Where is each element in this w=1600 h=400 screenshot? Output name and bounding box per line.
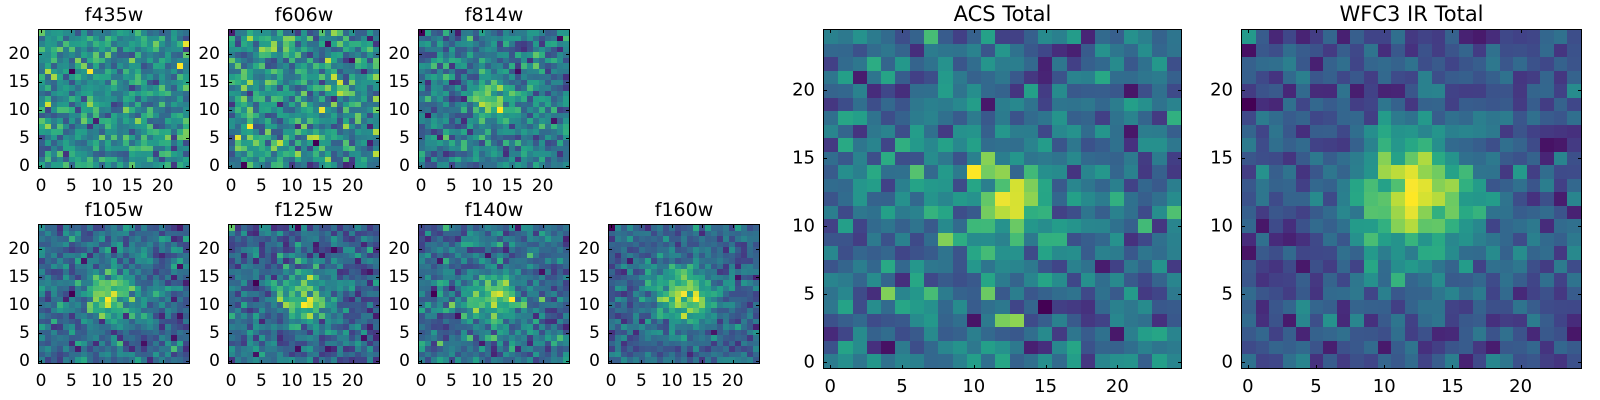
y-tick-label: 20 xyxy=(1173,80,1233,101)
x-tick-mark xyxy=(902,29,903,33)
image-axes xyxy=(608,224,760,364)
y-tick-mark xyxy=(38,249,42,250)
y-tick-mark xyxy=(1578,362,1582,363)
x-tick-mark xyxy=(1316,29,1317,33)
y-tick-mark xyxy=(228,277,232,278)
y-tick-mark xyxy=(1241,226,1245,227)
y-tick-label: 10 xyxy=(540,295,600,315)
y-tick-label: 10 xyxy=(0,295,30,315)
y-tick-label: 15 xyxy=(160,72,220,92)
x-tick-mark xyxy=(322,360,323,364)
cutout-panel-f160w: f160w0510152005101520 xyxy=(608,224,760,364)
y-tick-mark xyxy=(418,277,422,278)
y-tick-label: 0 xyxy=(1173,352,1233,373)
x-tick-mark xyxy=(41,165,42,169)
y-tick-mark xyxy=(823,294,827,295)
x-tick-label: 20 xyxy=(513,176,573,196)
cutout-panel-wfc3-ir-total: WFC3 IR Total0510152005101520 xyxy=(1241,29,1582,369)
x-tick-mark xyxy=(702,224,703,228)
y-tick-label: 10 xyxy=(350,295,410,315)
x-tick-mark xyxy=(830,365,831,369)
y-tick-label: 10 xyxy=(0,100,30,120)
x-tick-mark xyxy=(1384,29,1385,33)
x-tick-mark xyxy=(512,360,513,364)
pixel-grid xyxy=(824,30,1181,368)
y-tick-label: 5 xyxy=(160,128,220,148)
x-tick-mark xyxy=(353,224,354,228)
x-tick-label: 5 xyxy=(1286,376,1346,397)
pixel-grid xyxy=(609,225,759,363)
y-tick-label: 20 xyxy=(160,44,220,64)
y-tick-label: 10 xyxy=(160,295,220,315)
x-tick-mark xyxy=(163,29,164,33)
panel-title: f814w xyxy=(418,4,570,26)
x-tick-label: 20 xyxy=(513,371,573,391)
y-tick-label: 0 xyxy=(0,351,30,371)
x-tick-mark xyxy=(543,165,544,169)
x-tick-label: 20 xyxy=(133,371,193,391)
x-tick-mark xyxy=(451,165,452,169)
x-tick-mark xyxy=(292,29,293,33)
x-tick-mark xyxy=(702,360,703,364)
y-tick-label: 10 xyxy=(755,216,815,237)
y-tick-label: 15 xyxy=(350,267,410,287)
panel-title: f125w xyxy=(228,199,380,221)
x-tick-label: 5 xyxy=(872,376,932,397)
x-tick-mark xyxy=(611,224,612,228)
y-tick-mark xyxy=(823,90,827,91)
x-tick-mark xyxy=(830,29,831,33)
y-tick-mark xyxy=(418,138,422,139)
y-tick-label: 15 xyxy=(0,72,30,92)
y-tick-label: 20 xyxy=(350,239,410,259)
y-tick-label: 5 xyxy=(540,323,600,343)
x-tick-mark xyxy=(1521,29,1522,33)
y-tick-mark xyxy=(566,138,570,139)
x-tick-label: 20 xyxy=(1491,376,1551,397)
y-tick-label: 20 xyxy=(0,44,30,64)
x-tick-mark xyxy=(132,29,133,33)
y-tick-mark xyxy=(418,110,422,111)
y-tick-label: 15 xyxy=(540,267,600,287)
y-tick-label: 15 xyxy=(755,148,815,169)
x-tick-label: 20 xyxy=(1087,376,1147,397)
x-tick-mark xyxy=(512,29,513,33)
x-tick-mark xyxy=(451,224,452,228)
x-tick-mark xyxy=(1117,29,1118,33)
y-tick-mark xyxy=(38,54,42,55)
x-tick-mark xyxy=(102,29,103,33)
x-tick-mark xyxy=(641,224,642,228)
x-tick-mark xyxy=(322,165,323,169)
y-tick-label: 0 xyxy=(350,351,410,371)
image-axes xyxy=(418,29,570,169)
x-tick-mark xyxy=(482,165,483,169)
x-tick-label: 10 xyxy=(944,376,1004,397)
x-tick-mark xyxy=(512,224,513,228)
y-tick-mark xyxy=(38,110,42,111)
panel-title: f606w xyxy=(228,4,380,26)
x-tick-mark xyxy=(231,224,232,228)
x-tick-mark xyxy=(611,360,612,364)
x-tick-mark xyxy=(672,224,673,228)
y-tick-mark xyxy=(566,82,570,83)
y-tick-label: 20 xyxy=(350,44,410,64)
y-tick-label: 15 xyxy=(0,267,30,287)
x-tick-mark xyxy=(71,360,72,364)
x-tick-mark xyxy=(641,360,642,364)
x-tick-mark xyxy=(1452,365,1453,369)
x-tick-mark xyxy=(421,29,422,33)
y-tick-label: 0 xyxy=(755,352,815,373)
x-tick-mark xyxy=(451,360,452,364)
y-tick-label: 20 xyxy=(160,239,220,259)
y-tick-label: 0 xyxy=(350,156,410,176)
x-tick-mark xyxy=(71,165,72,169)
y-tick-label: 5 xyxy=(755,284,815,305)
x-tick-mark xyxy=(1117,365,1118,369)
y-tick-label: 20 xyxy=(755,80,815,101)
x-tick-label: 15 xyxy=(1016,376,1076,397)
x-tick-mark xyxy=(322,29,323,33)
y-tick-mark xyxy=(608,305,612,306)
y-tick-mark xyxy=(228,333,232,334)
y-tick-label: 5 xyxy=(350,323,410,343)
x-tick-mark xyxy=(1521,365,1522,369)
x-tick-mark xyxy=(353,29,354,33)
y-tick-mark xyxy=(228,54,232,55)
x-tick-mark xyxy=(41,224,42,228)
y-tick-mark xyxy=(1578,158,1582,159)
y-tick-mark xyxy=(566,110,570,111)
y-tick-label: 5 xyxy=(1173,284,1233,305)
x-tick-mark xyxy=(231,29,232,33)
y-tick-label: 20 xyxy=(540,239,600,259)
y-tick-mark xyxy=(608,277,612,278)
x-tick-mark xyxy=(1046,365,1047,369)
y-tick-mark xyxy=(756,305,760,306)
pixel-grid xyxy=(419,30,569,168)
x-tick-mark xyxy=(132,360,133,364)
y-tick-label: 5 xyxy=(350,128,410,148)
x-tick-mark xyxy=(543,224,544,228)
y-tick-label: 10 xyxy=(160,100,220,120)
y-tick-mark xyxy=(756,249,760,250)
y-tick-mark xyxy=(1241,158,1245,159)
y-tick-mark xyxy=(38,277,42,278)
y-tick-mark xyxy=(38,305,42,306)
x-tick-label: 0 xyxy=(800,376,860,397)
x-tick-mark xyxy=(292,165,293,169)
image-axes xyxy=(823,29,1182,369)
y-tick-mark xyxy=(38,333,42,334)
x-tick-mark xyxy=(482,360,483,364)
y-tick-mark xyxy=(418,82,422,83)
x-tick-mark xyxy=(1248,29,1249,33)
x-tick-mark xyxy=(974,365,975,369)
x-tick-label: 20 xyxy=(323,371,383,391)
x-tick-mark xyxy=(902,365,903,369)
y-tick-mark xyxy=(1241,90,1245,91)
x-tick-label: 0 xyxy=(1218,376,1278,397)
y-tick-label: 10 xyxy=(1173,216,1233,237)
y-tick-mark xyxy=(418,54,422,55)
x-tick-label: 20 xyxy=(133,176,193,196)
x-tick-mark xyxy=(71,29,72,33)
x-tick-mark xyxy=(974,29,975,33)
y-tick-mark xyxy=(566,166,570,167)
panel-title: f435w xyxy=(38,4,190,26)
y-tick-mark xyxy=(418,305,422,306)
x-tick-mark xyxy=(261,224,262,228)
x-tick-mark xyxy=(482,224,483,228)
y-tick-mark xyxy=(1241,362,1245,363)
x-tick-mark xyxy=(1316,365,1317,369)
image-axes xyxy=(1241,29,1582,369)
panel-title: f160w xyxy=(608,199,760,221)
y-tick-mark xyxy=(1578,90,1582,91)
y-tick-label: 5 xyxy=(160,323,220,343)
y-tick-label: 5 xyxy=(0,128,30,148)
x-tick-mark xyxy=(231,165,232,169)
y-tick-mark xyxy=(608,333,612,334)
y-tick-mark xyxy=(228,249,232,250)
y-tick-mark xyxy=(418,333,422,334)
x-tick-mark xyxy=(421,224,422,228)
y-tick-label: 15 xyxy=(350,72,410,92)
x-tick-mark xyxy=(733,224,734,228)
x-tick-mark xyxy=(132,224,133,228)
y-tick-label: 15 xyxy=(1173,148,1233,169)
y-tick-label: 5 xyxy=(0,323,30,343)
x-tick-mark xyxy=(1046,29,1047,33)
y-tick-label: 15 xyxy=(160,267,220,287)
panel-title: WFC3 IR Total xyxy=(1241,2,1582,26)
x-tick-mark xyxy=(261,360,262,364)
x-tick-mark xyxy=(102,360,103,364)
y-tick-mark xyxy=(756,333,760,334)
x-tick-mark xyxy=(102,224,103,228)
cutout-panel-acs-total: ACS Total0510152005101520 xyxy=(823,29,1182,369)
y-tick-label: 0 xyxy=(160,156,220,176)
x-tick-label: 20 xyxy=(703,371,763,391)
panel-title: f105w xyxy=(38,199,190,221)
x-tick-mark xyxy=(421,165,422,169)
y-tick-mark xyxy=(228,82,232,83)
y-tick-mark xyxy=(823,158,827,159)
x-tick-label: 15 xyxy=(1422,376,1482,397)
x-tick-mark xyxy=(543,29,544,33)
x-tick-mark xyxy=(1248,365,1249,369)
x-tick-mark xyxy=(261,165,262,169)
x-tick-mark xyxy=(1384,365,1385,369)
y-tick-label: 10 xyxy=(350,100,410,120)
x-tick-mark xyxy=(231,360,232,364)
y-tick-label: 0 xyxy=(0,156,30,176)
x-tick-mark xyxy=(322,224,323,228)
y-tick-mark xyxy=(566,54,570,55)
x-tick-mark xyxy=(102,165,103,169)
y-tick-mark xyxy=(228,138,232,139)
y-tick-label: 0 xyxy=(540,351,600,371)
y-tick-mark xyxy=(1578,294,1582,295)
y-tick-mark xyxy=(418,249,422,250)
x-tick-mark xyxy=(421,360,422,364)
y-tick-mark xyxy=(823,226,827,227)
x-tick-mark xyxy=(733,360,734,364)
y-tick-label: 20 xyxy=(0,239,30,259)
x-tick-mark xyxy=(482,29,483,33)
cutout-panel-f814w: f814w0510152005101520 xyxy=(418,29,570,169)
y-tick-mark xyxy=(823,362,827,363)
x-tick-mark xyxy=(672,360,673,364)
x-tick-mark xyxy=(163,224,164,228)
y-tick-mark xyxy=(1578,226,1582,227)
y-tick-mark xyxy=(608,249,612,250)
x-tick-mark xyxy=(41,360,42,364)
panel-title: f140w xyxy=(418,199,570,221)
x-tick-mark xyxy=(292,224,293,228)
x-tick-mark xyxy=(512,165,513,169)
y-tick-mark xyxy=(1241,294,1245,295)
x-tick-mark xyxy=(1452,29,1453,33)
y-tick-mark xyxy=(228,305,232,306)
pixel-grid xyxy=(1242,30,1581,368)
x-tick-label: 10 xyxy=(1354,376,1414,397)
y-tick-mark xyxy=(38,82,42,83)
x-tick-mark xyxy=(41,29,42,33)
x-tick-label: 20 xyxy=(323,176,383,196)
x-tick-mark xyxy=(261,29,262,33)
x-tick-mark xyxy=(132,165,133,169)
y-tick-mark xyxy=(756,277,760,278)
y-tick-mark xyxy=(228,110,232,111)
panel-title: ACS Total xyxy=(823,2,1182,26)
y-tick-mark xyxy=(38,138,42,139)
x-tick-mark xyxy=(292,360,293,364)
x-tick-mark xyxy=(451,29,452,33)
x-tick-mark xyxy=(71,224,72,228)
y-tick-label: 0 xyxy=(160,351,220,371)
